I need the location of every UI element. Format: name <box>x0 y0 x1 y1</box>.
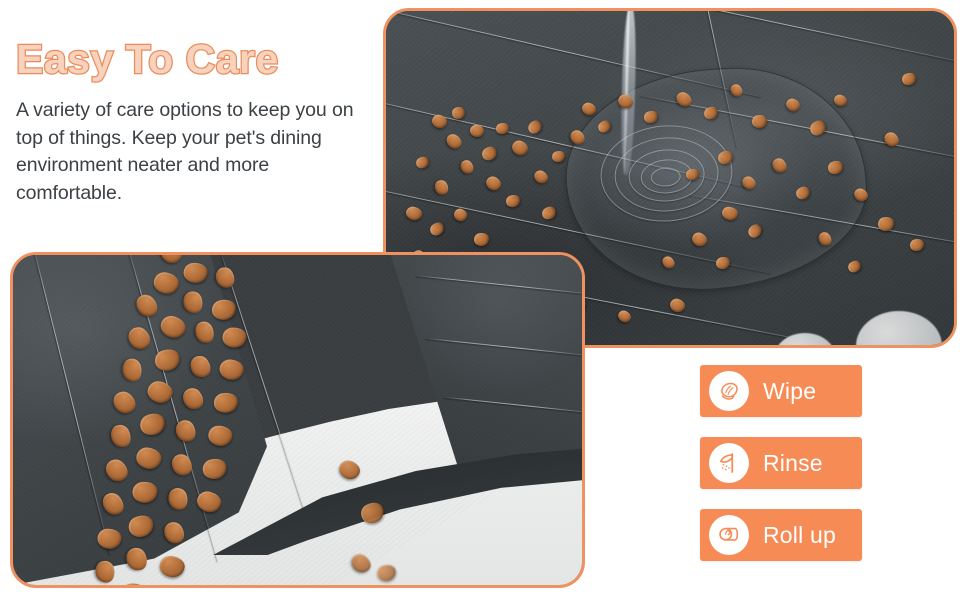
kibble-piece <box>172 417 199 445</box>
kibble-piece <box>210 298 237 322</box>
kibble-piece <box>145 379 174 405</box>
feature-badge-roll-up[interactable]: Roll up <box>700 509 862 561</box>
kibble-piece <box>135 446 163 471</box>
kibble-piece <box>181 289 205 315</box>
kibble-piece <box>222 327 247 348</box>
kibble-piece <box>137 410 168 439</box>
kibble-piece <box>97 529 121 549</box>
roll-up-mat-icon <box>709 515 749 555</box>
kibble-piece <box>158 314 188 341</box>
kibble-piece <box>93 559 116 585</box>
page-title: Easy To Care <box>16 38 376 81</box>
kibble-piece <box>120 582 146 585</box>
page-description: A variety of care options to keep you on… <box>16 97 374 208</box>
kibble-piece <box>166 486 191 513</box>
kibble-piece <box>109 388 139 418</box>
kibble-piece <box>168 451 196 480</box>
kibble-piece <box>132 481 159 504</box>
kibble-piece <box>201 457 229 482</box>
feature-badge-rinse[interactable]: Rinse <box>700 437 862 489</box>
kibble-piece <box>156 255 185 268</box>
kibble-piece <box>192 319 217 346</box>
kibble-piece <box>98 489 127 519</box>
rinse-shower-head-icon <box>709 443 749 483</box>
kibble-piece <box>186 353 214 382</box>
kibble-piece <box>160 519 188 548</box>
text-block: Easy To Care A variety of care options t… <box>16 38 376 208</box>
kibble-piece <box>123 545 151 574</box>
feature-label: Wipe <box>763 378 816 405</box>
kibble-piece <box>107 422 133 451</box>
kibble-piece <box>126 512 156 540</box>
photo-content <box>13 255 582 585</box>
kibble-piece <box>152 271 181 296</box>
kibble-piece <box>132 291 161 321</box>
kibble-piece <box>101 456 131 486</box>
feature-label: Rinse <box>763 450 823 477</box>
kibble-piece <box>212 391 239 415</box>
kibble-piece <box>208 425 233 446</box>
kibble-piece <box>124 323 154 353</box>
kibble-piece <box>120 357 143 383</box>
photo-kibble-poured-off-mat <box>10 252 585 588</box>
feature-badge-wipe[interactable]: Wipe <box>700 365 862 417</box>
kibble-piece <box>183 263 207 283</box>
kibble-piece <box>152 347 182 374</box>
kibble-piece <box>218 359 244 382</box>
kibble-piece <box>179 385 207 414</box>
feature-list: Wipe Rinse Roll up <box>700 365 862 561</box>
feature-label: Roll up <box>763 522 836 549</box>
wipe-hand-cloth-icon <box>709 371 749 411</box>
